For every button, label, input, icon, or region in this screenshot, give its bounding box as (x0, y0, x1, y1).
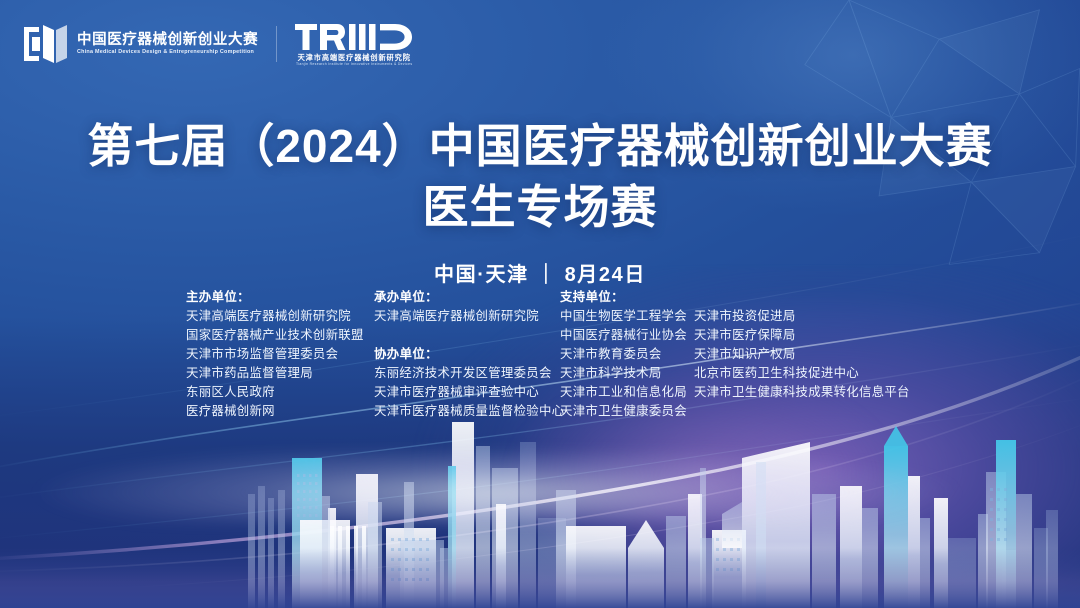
organizer-column-supporter-a: 支持单位： 中国生物医学工程学会 中国医疗器械行业协会 天津市教育委员会 天津市… (560, 288, 694, 421)
host-item: 国家医疗器械产业技术创新联盟 (186, 326, 374, 345)
supporter-item: 天津市工业和信息化局 (560, 383, 694, 402)
host-heading: 主办单位： (186, 288, 374, 307)
organizer-column-undertaker: 承办单位： 天津高端医疗器械创新研究院 协办单位： 东丽经济技术开发区管理委员会… (374, 288, 560, 421)
coorganizer-item: 东丽经济技术开发区管理委员会 (374, 364, 560, 383)
supporter-item: 天津市卫生健康科技成果转化信息平台 (694, 383, 908, 402)
coorganizer-heading: 协办单位： (374, 345, 560, 364)
organizer-column-supporter-b: 天津市投资促进局 天津市医疗保障局 天津市知识产权局 北京市医药卫生科技促进中心… (694, 288, 908, 421)
logo-bar: 中国医疗器械创新创业大赛 China Medical Devices Desig… (22, 22, 413, 67)
open-door-icon (22, 23, 68, 65)
location-date-line: 中国·天津 ｜ 8月24日 (0, 258, 1080, 287)
supporter-heading: 支持单位： (560, 288, 694, 307)
host-item: 医疗器械创新网 (186, 402, 374, 421)
supporter-item: 天津市教育委员会 (560, 345, 694, 364)
city-skyline-silhouette (0, 398, 1080, 608)
host-item: 天津高端医疗器械创新研究院 (186, 307, 374, 326)
supporter-item: 天津市医疗保障局 (694, 326, 908, 345)
triid-wordmark-icon (295, 22, 413, 52)
supporter-item: 天津市科学技术局 (560, 364, 694, 383)
supporter-item: 中国生物医学工程学会 (560, 307, 694, 326)
coorganizer-item: 天津市医疗器械质量监督检验中心 (374, 402, 560, 421)
column-spacer (374, 326, 560, 345)
poster-canvas: 中国医疗器械创新创业大赛 China Medical Devices Desig… (0, 0, 1080, 608)
supporter-item: 中国医疗器械行业协会 (560, 326, 694, 345)
host-item: 天津市药品监督管理局 (186, 364, 374, 383)
poster-title: 第七届（2024）中国医疗器械创新创业大赛 医生专场赛 (0, 116, 1080, 237)
coorganizer-item: 天津市医疗器械审评查验中心 (374, 383, 560, 402)
organizer-block: 主办单位： 天津高端医疗器械创新研究院 国家医疗器械产业技术创新联盟 天津市市场… (186, 288, 908, 421)
logo-divider (276, 26, 277, 62)
supporter-item: 天津市投资促进局 (694, 307, 908, 326)
supporter-item: 天津市知识产权局 (694, 345, 908, 364)
undertaker-heading: 承办单位： (374, 288, 560, 307)
title-line-1: 第七届（2024）中国医疗器械创新创业大赛 (0, 116, 1080, 177)
supporter-item: 北京市医药卫生科技促进中心 (694, 364, 908, 383)
undertaker-item: 天津高端医疗器械创新研究院 (374, 307, 560, 326)
supporter-item: 天津市卫生健康委员会 (560, 402, 694, 421)
host-item: 天津市市场监督管理委员会 (186, 345, 374, 364)
institute-logo-cn: 天津市高端医疗器械创新研究院 (298, 54, 411, 61)
column-spacer (694, 288, 908, 307)
competition-logo-cn: 中国医疗器械创新创业大赛 (77, 33, 258, 48)
organizer-column-host: 主办单位： 天津高端医疗器械创新研究院 国家医疗器械产业技术创新联盟 天津市市场… (186, 288, 374, 421)
institute-logo-en: Tianjin Research Institute for Innovativ… (296, 63, 412, 66)
competition-logo-en: China Medical Devices Design & Entrepren… (77, 50, 258, 56)
competition-logo[interactable]: 中国医疗器械创新创业大赛 China Medical Devices Desig… (22, 23, 258, 65)
host-item: 东丽区人民政府 (186, 383, 374, 402)
title-line-2: 医生专场赛 (0, 177, 1080, 238)
institute-logo[interactable]: 天津市高端医疗器械创新研究院 Tianjin Research Institut… (295, 22, 413, 67)
